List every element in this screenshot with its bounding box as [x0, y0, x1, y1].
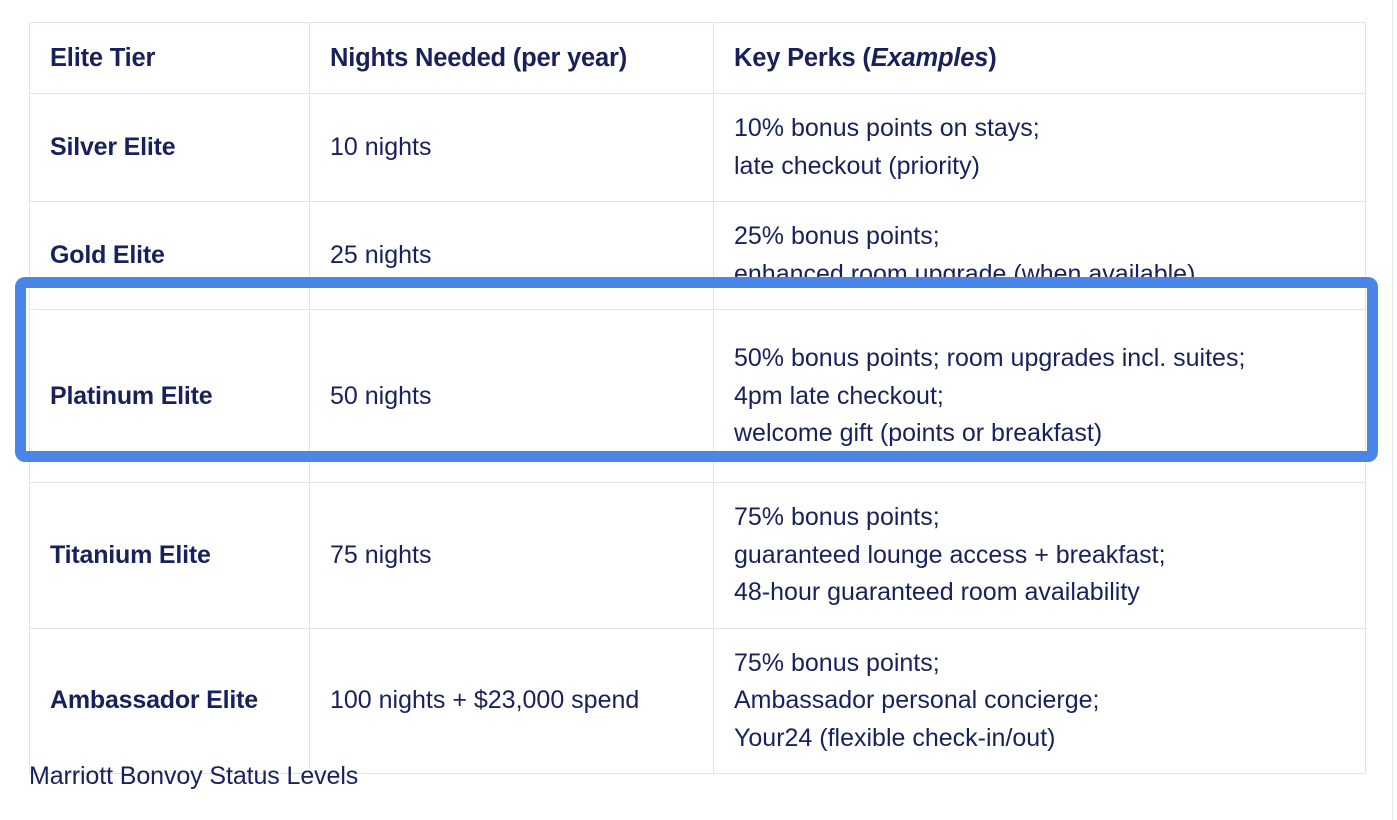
perk-line: 10% bonus points on stays;	[734, 110, 1345, 148]
cell-perks-gold: 25% bonus points; enhanced room upgrade …	[714, 202, 1366, 310]
cell-tier-ambassador: Ambassador Elite	[30, 628, 310, 774]
cell-perks-platinum: 50% bonus points; room upgrades incl. su…	[714, 310, 1366, 483]
cell-tier-gold: Gold Elite	[30, 202, 310, 310]
perk-line: enhanced room upgrade (when available)	[734, 256, 1345, 294]
perk-line: Your24 (flexible check-in/out)	[734, 720, 1345, 758]
cell-nights-gold: 25 nights	[310, 202, 714, 310]
cell-perks-silver: 10% bonus points on stays; late checkout…	[714, 94, 1366, 202]
perk-line: 75% bonus points;	[734, 645, 1345, 683]
table-header-row: Elite Tier Nights Needed (per year) Key …	[30, 23, 1366, 94]
perk-line: late checkout (priority)	[734, 148, 1345, 186]
column-header-key-perks-italic: Examples	[871, 44, 988, 72]
perk-line: 50% bonus points; room upgrades incl. su…	[734, 340, 1345, 378]
cell-tier-platinum: Platinum Elite	[30, 310, 310, 483]
column-header-key-perks: Key Perks (Examples)	[714, 23, 1366, 94]
table-header: Elite Tier Nights Needed (per year) Key …	[30, 23, 1366, 94]
table-row: Silver Elite 10 nights 10% bonus points …	[30, 94, 1366, 202]
perk-line: 25% bonus points;	[734, 218, 1345, 256]
page-edge-rule	[1392, 0, 1393, 820]
perk-line: 75% bonus points;	[734, 499, 1345, 537]
perk-line: guaranteed lounge access + breakfast;	[734, 537, 1345, 575]
cell-nights-titanium: 75 nights	[310, 483, 714, 629]
status-table-container: Elite Tier Nights Needed (per year) Key …	[29, 22, 1365, 774]
cell-perks-ambassador: 75% bonus points; Ambassador personal co…	[714, 628, 1366, 774]
perk-line: 4pm late checkout;	[734, 378, 1345, 416]
perk-line: welcome gift (points or breakfast)	[734, 415, 1345, 453]
column-header-elite-tier: Elite Tier	[30, 23, 310, 94]
table-row: Ambassador Elite 100 nights + $23,000 sp…	[30, 628, 1366, 774]
cell-nights-ambassador: 100 nights + $23,000 spend	[310, 628, 714, 774]
cell-tier-silver: Silver Elite	[30, 94, 310, 202]
cell-tier-titanium: Titanium Elite	[30, 483, 310, 629]
column-header-key-perks-suffix: )	[988, 44, 996, 72]
cell-perks-titanium: 75% bonus points; guaranteed lounge acce…	[714, 483, 1366, 629]
table-row-highlighted: Platinum Elite 50 nights 50% bonus point…	[30, 310, 1366, 483]
table-row: Gold Elite 25 nights 25% bonus points; e…	[30, 202, 1366, 310]
perk-line: Ambassador personal concierge;	[734, 682, 1345, 720]
column-header-nights-needed: Nights Needed (per year)	[310, 23, 714, 94]
cell-nights-platinum: 50 nights	[310, 310, 714, 483]
table-body: Silver Elite 10 nights 10% bonus points …	[30, 94, 1366, 774]
cell-nights-silver: 10 nights	[310, 94, 714, 202]
column-header-key-perks-prefix: Key Perks (	[734, 44, 871, 72]
table-row: Titanium Elite 75 nights 75% bonus point…	[30, 483, 1366, 629]
elite-status-table: Elite Tier Nights Needed (per year) Key …	[29, 22, 1366, 774]
table-caption: Marriott Bonvoy Status Levels	[29, 762, 358, 791]
page-root: Elite Tier Nights Needed (per year) Key …	[0, 0, 1397, 820]
perk-line: 48-hour guaranteed room availability	[734, 574, 1345, 612]
